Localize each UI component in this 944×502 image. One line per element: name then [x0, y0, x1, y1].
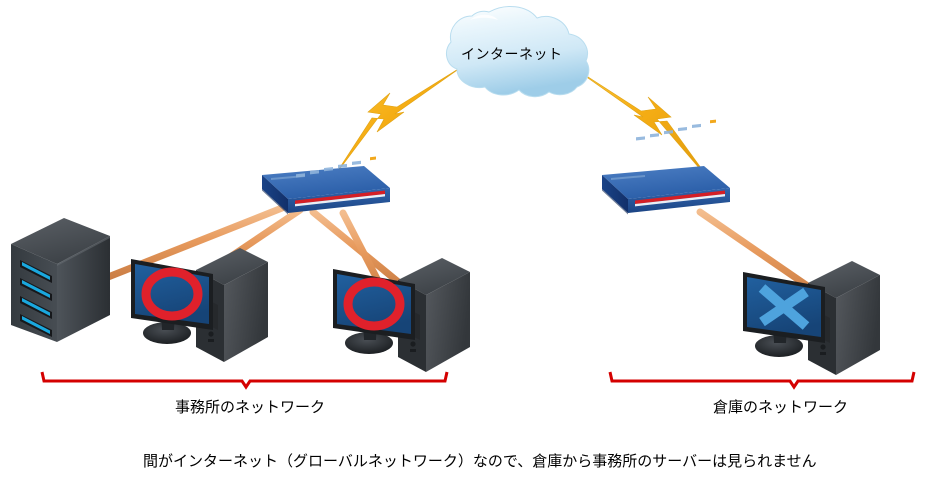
office-router-icon [262, 157, 390, 215]
link-cloud-to-warehouse-router [571, 66, 712, 183]
office-group-bracket [42, 372, 447, 387]
office-pc-2-icon [333, 258, 470, 372]
diagram-canvas [0, 0, 944, 502]
link-office-router-to-cloud [333, 66, 463, 178]
office-network-label: 事務所のネットワーク [175, 396, 325, 417]
warehouse-router-icon [602, 120, 730, 215]
diagram-caption: 間がインターネット（グローバルネットワーク）なので、倉庫から事務所のサーバーは見… [143, 450, 817, 471]
cloud-label: インターネット [461, 44, 563, 64]
warehouse-pc-1-icon [743, 261, 880, 375]
network-diagram: インターネット 事務所のネットワーク 倉庫のネットワーク 間がインターネット（グ… [0, 0, 944, 502]
warehouse-group-bracket [610, 372, 914, 387]
warehouse-network-label: 倉庫のネットワーク [713, 396, 848, 417]
office-pc-1-icon [131, 248, 268, 362]
office-server-icon [11, 218, 110, 342]
